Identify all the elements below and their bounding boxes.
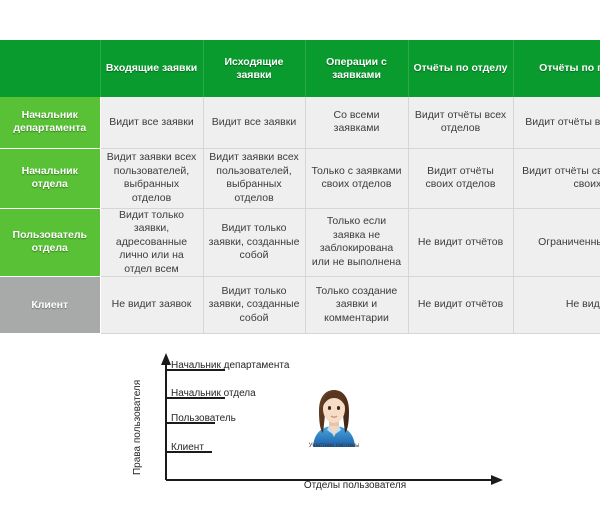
y-axis-title: Права пользователя [131,372,145,482]
column-header-department-reports: Отчёты по отделу [408,40,513,97]
y-axis-arrowhead [161,353,171,365]
user-avatar-icon [303,385,365,447]
cell-r0-c0: Видит все заявки [100,97,203,148]
matrix-corner-cell [0,40,100,97]
x-axis-arrowhead [491,475,503,485]
cell-r3-c1: Видит только заявки, созданные собой [203,277,305,334]
cell-r2-c2: Только если заявка не заблокирована или … [305,208,408,277]
cell-r1-c0: Видит заявки всех пользователей, выбранн… [100,148,203,208]
row-label-department-user: Пользователь отдела [0,208,100,277]
level-label-division-head: Начальник отдела [171,388,256,400]
column-header-user-reports: Отчёты по пользователям [513,40,600,97]
table-row: Начальник отдела Видит заявки всех польз… [0,148,600,208]
cell-r3-c4: Не видит отчётов [513,277,600,334]
rights-diagram: Участник системы [0,340,600,524]
row-label-department-head: Начальник департамента [0,97,100,148]
level-label-department-head: Начальник департамента [171,360,289,372]
cell-r0-c3: Видит отчёты всех отделов [408,97,513,148]
cell-r3-c2: Только создание заявки и комментарии [305,277,408,334]
table-row: Пользователь отдела Видит только заявки,… [0,208,600,277]
row-label-division-head: Начальник отдела [0,148,100,208]
cell-r3-c0: Не видит заявок [100,277,203,334]
level-label-client: Клиент [171,442,204,454]
cell-r3-c3: Не видит отчётов [408,277,513,334]
cell-r2-c1: Видит только заявки, созданные собой [203,208,305,277]
table-row: Клиент Не видит заявок Видит только заяв… [0,277,600,334]
x-axis-title: Отделы пользователя [235,480,475,491]
table-row: Начальник департамента Видит все заявки … [0,97,600,148]
cell-r1-c4: Видит отчёты своих пользователей своих о… [513,148,600,208]
cell-r2-c4: Ограниченный личный отчёт [513,208,600,277]
cell-r0-c1: Видит все заявки [203,97,305,148]
cell-r0-c4: Видит отчёты всех пользователей [513,97,600,148]
diagram-axes [0,340,600,524]
row-label-client: Клиент [0,277,100,334]
cell-r2-c0: Видит только заявки, адресованные лично … [100,208,203,277]
cell-r1-c1: Видит заявки всех пользователей, выбранн… [203,148,305,208]
cell-r1-c3: Видит отчёты своих отделов [408,148,513,208]
column-header-incoming-requests: Входящие заявки [100,40,203,97]
permissions-matrix-container: Входящие заявки Исходящие заявки Операци… [0,40,600,334]
permissions-matrix: Входящие заявки Исходящие заявки Операци… [0,40,600,334]
cell-r1-c2: Только с заявками своих отделов [305,148,408,208]
avatar-caption: Участник системы [288,443,380,449]
column-header-request-operations: Операции с заявками [305,40,408,97]
level-label-user: Пользователь [171,413,236,425]
matrix-header-row: Входящие заявки Исходящие заявки Операци… [0,40,600,97]
cell-r2-c3: Не видит отчётов [408,208,513,277]
cell-r0-c2: Со всеми заявками [305,97,408,148]
column-header-outgoing-requests: Исходящие заявки [203,40,305,97]
